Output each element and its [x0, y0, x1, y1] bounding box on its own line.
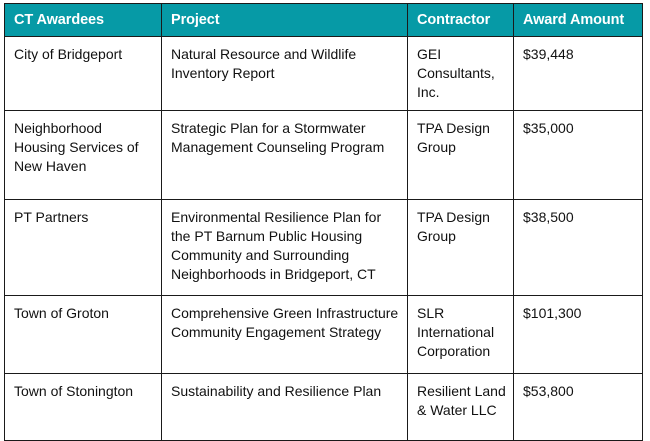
cell-awardee: Neighborhood Housing Services of New Hav…	[5, 111, 162, 200]
cell-awardee: City of Bridgeport	[5, 37, 162, 111]
cell-awardee: Town of Groton	[5, 296, 162, 374]
cell-awardee: Town of Stonington	[5, 374, 162, 441]
header-row: CT Awardees Project Contractor Award Amo…	[5, 4, 643, 37]
awards-table-container: CT Awardees Project Contractor Award Amo…	[4, 3, 642, 441]
cell-contractor: Resilient Land & Water LLC	[408, 374, 514, 441]
cell-contractor: TPA Design Group	[408, 200, 514, 296]
cell-project: Sustainability and Resilience Plan	[162, 374, 408, 441]
table-row: City of Bridgeport Natural Resource and …	[5, 37, 643, 111]
table-row: Town of Groton Comprehensive Green Infra…	[5, 296, 643, 374]
table-body: City of Bridgeport Natural Resource and …	[5, 37, 643, 441]
column-header-ct-awardees: CT Awardees	[5, 4, 162, 37]
cell-contractor: GEI Consultants, Inc.	[408, 37, 514, 111]
cell-project: Comprehensive Green Infrastructure Commu…	[162, 296, 408, 374]
cell-contractor: TPA Design Group	[408, 111, 514, 200]
cell-amount: $38,500	[514, 200, 643, 296]
table-header: CT Awardees Project Contractor Award Amo…	[5, 4, 643, 37]
cell-amount: $53,800	[514, 374, 643, 441]
cell-project: Environmental Resilience Plan for the PT…	[162, 200, 408, 296]
cell-awardee: PT Partners	[5, 200, 162, 296]
table-row: PT Partners Environmental Resilience Pla…	[5, 200, 643, 296]
cell-amount: $35,000	[514, 111, 643, 200]
ct-awardees-table: CT Awardees Project Contractor Award Amo…	[4, 3, 643, 441]
cell-contractor: SLR International Corporation	[408, 296, 514, 374]
cell-amount: $39,448	[514, 37, 643, 111]
table-row: Neighborhood Housing Services of New Hav…	[5, 111, 643, 200]
column-header-award-amount: Award Amount	[514, 4, 643, 37]
cell-amount: $101,300	[514, 296, 643, 374]
cell-project: Natural Resource and Wildlife Inventory …	[162, 37, 408, 111]
cell-project: Strategic Plan for a Stormwater Manageme…	[162, 111, 408, 200]
column-header-contractor: Contractor	[408, 4, 514, 37]
table-row: Town of Stonington Sustainability and Re…	[5, 374, 643, 441]
column-header-project: Project	[162, 4, 408, 37]
